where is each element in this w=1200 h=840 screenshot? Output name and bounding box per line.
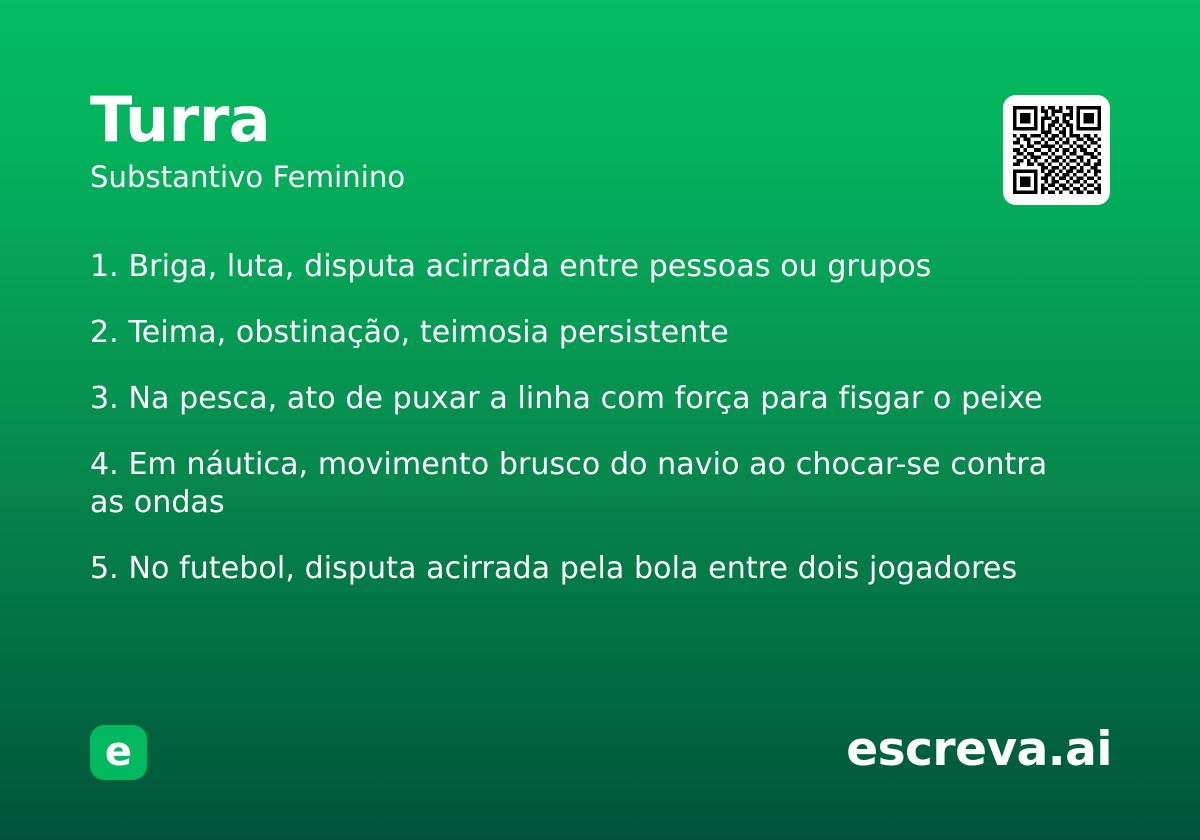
- brand-logo[interactable]: e: [90, 725, 147, 780]
- brand-wordmark: escreva.ai: [846, 724, 1112, 776]
- brand-logo-letter: e: [105, 732, 132, 772]
- definition-list: 1. Briga, luta, disputa acirrada entre p…: [90, 248, 1090, 588]
- definition-item: 3. Na pesca, ato de puxar a linha com fo…: [90, 380, 1090, 418]
- qr-code-card[interactable]: [1003, 95, 1110, 205]
- page-title: Turra: [90, 88, 970, 152]
- card-header: Turra Substantivo Feminino: [90, 88, 970, 194]
- definition-item: 1. Briga, luta, disputa acirrada entre p…: [90, 248, 1090, 286]
- word-class-label: Substantivo Feminino: [90, 160, 970, 194]
- definition-item: 2. Teima, obstinação, teimosia persisten…: [90, 314, 1090, 352]
- dictionary-card: Turra Substantivo Feminino 1. Briga, lut…: [0, 0, 1200, 840]
- qr-code-icon: [1013, 106, 1101, 194]
- definition-item: 4. Em náutica, movimento brusco do navio…: [90, 446, 1090, 522]
- definition-item: 5. No futebol, disputa acirrada pela bol…: [90, 550, 1090, 588]
